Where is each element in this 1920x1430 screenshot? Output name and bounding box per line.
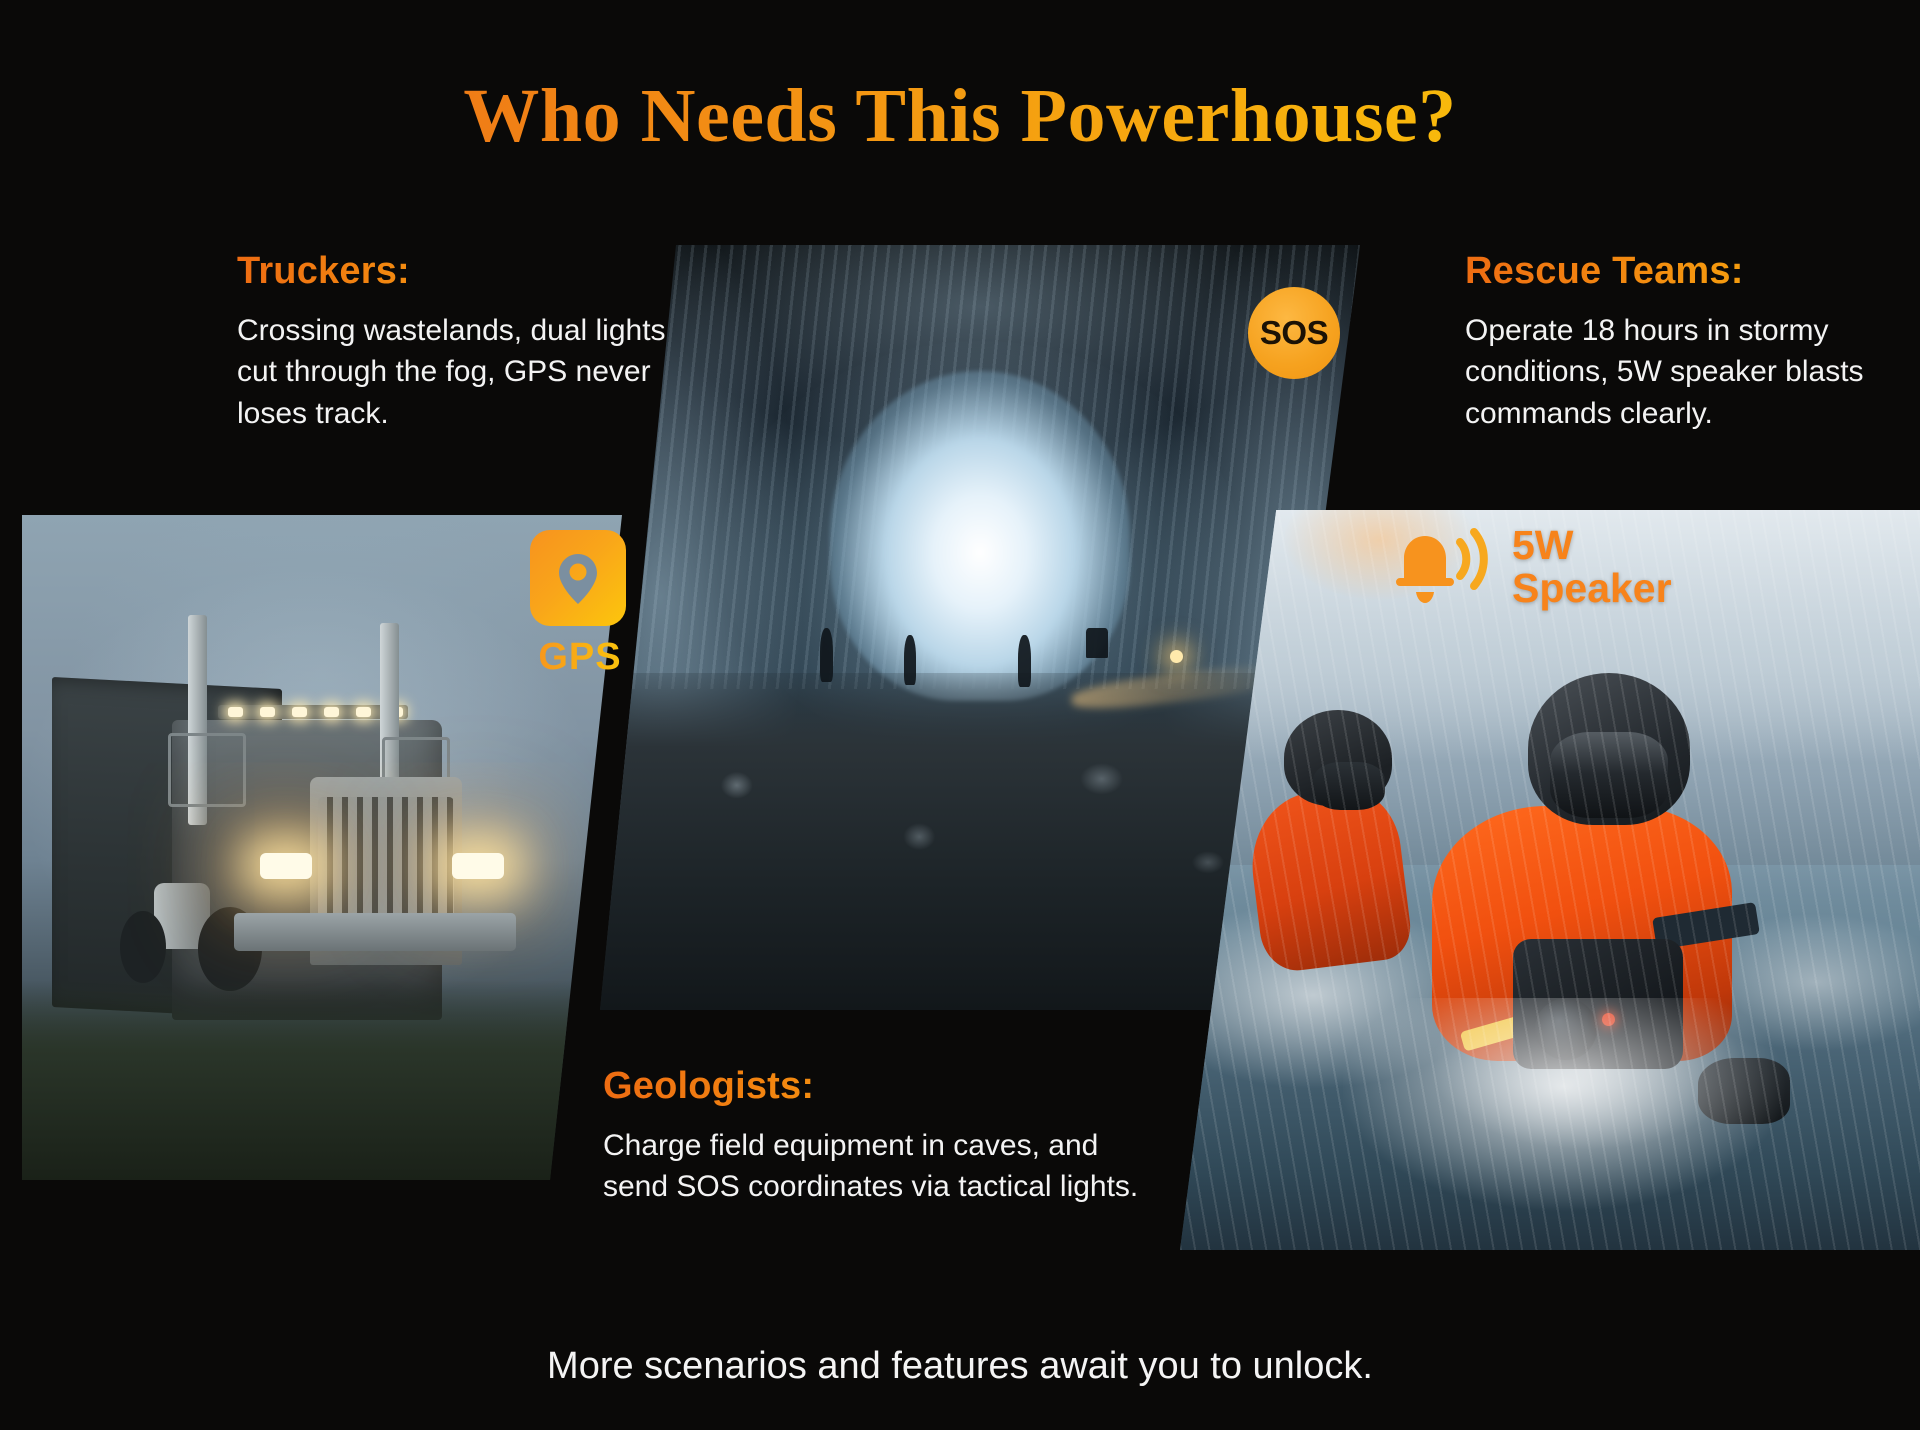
truck-mirror-rail [168,733,246,807]
bell-icon [1392,526,1498,608]
rescue-teams-text-block: Rescue Teams: Operate 18 hours in stormy… [1465,250,1920,434]
truckers-kicker: Truckers: [237,250,707,293]
cave-rock-silhouette [1086,628,1108,658]
truck-headlight [452,853,504,879]
rescue-teams-body: Operate 18 hours in stormy conditions, 5… [1465,310,1920,434]
truck-marker-light [292,707,307,717]
gps-badge: GPS [530,530,630,679]
cave-tunnel-opening [830,371,1130,701]
map-pin-icon [530,530,626,626]
rescue-teams-image-panel [1180,510,1920,1250]
page-title: Who Needs This Powerhouse? [0,73,1920,160]
rescue-teams-kicker: Rescue Teams: [1465,250,1920,293]
rain-overlay [1180,510,1920,1250]
truckers-body: Crossing wastelands, dual lights cut thr… [237,310,707,434]
gps-label: GPS [530,636,630,679]
sos-label: SOS [1260,314,1328,352]
cave-explorer-silhouette [904,635,916,685]
truck-bumper-shape [234,913,516,951]
truckers-text-block: Truckers: Crossing wastelands, dual ligh… [237,250,707,434]
geologists-kicker: Geologists: [603,1065,1163,1108]
gps-tile [530,530,626,626]
speaker-label: 5W Speaker [1512,524,1672,610]
truck-headlight [260,853,312,879]
cave-explorer-silhouette [820,628,833,682]
cave-explorer-silhouette [1018,635,1031,687]
truck-wheel [120,911,166,983]
truck-marker-light [324,707,339,717]
geologists-text-block: Geologists: Charge field equipment in ca… [603,1065,1163,1208]
footer-text: More scenarios and features await you to… [0,1345,1920,1388]
speaker-label-line2: Speaker [1512,567,1672,610]
speaker-badge: 5W Speaker [1392,524,1672,610]
truck-marker-light [228,707,243,717]
speaker-label-line1: 5W [1512,524,1672,567]
grass-foreground [22,980,622,1180]
geologists-body: Charge field equipment in caves, and sen… [603,1125,1163,1208]
truck-marker-light [356,707,371,717]
sos-badge: SOS [1248,287,1340,379]
truck-marker-light [260,707,275,717]
